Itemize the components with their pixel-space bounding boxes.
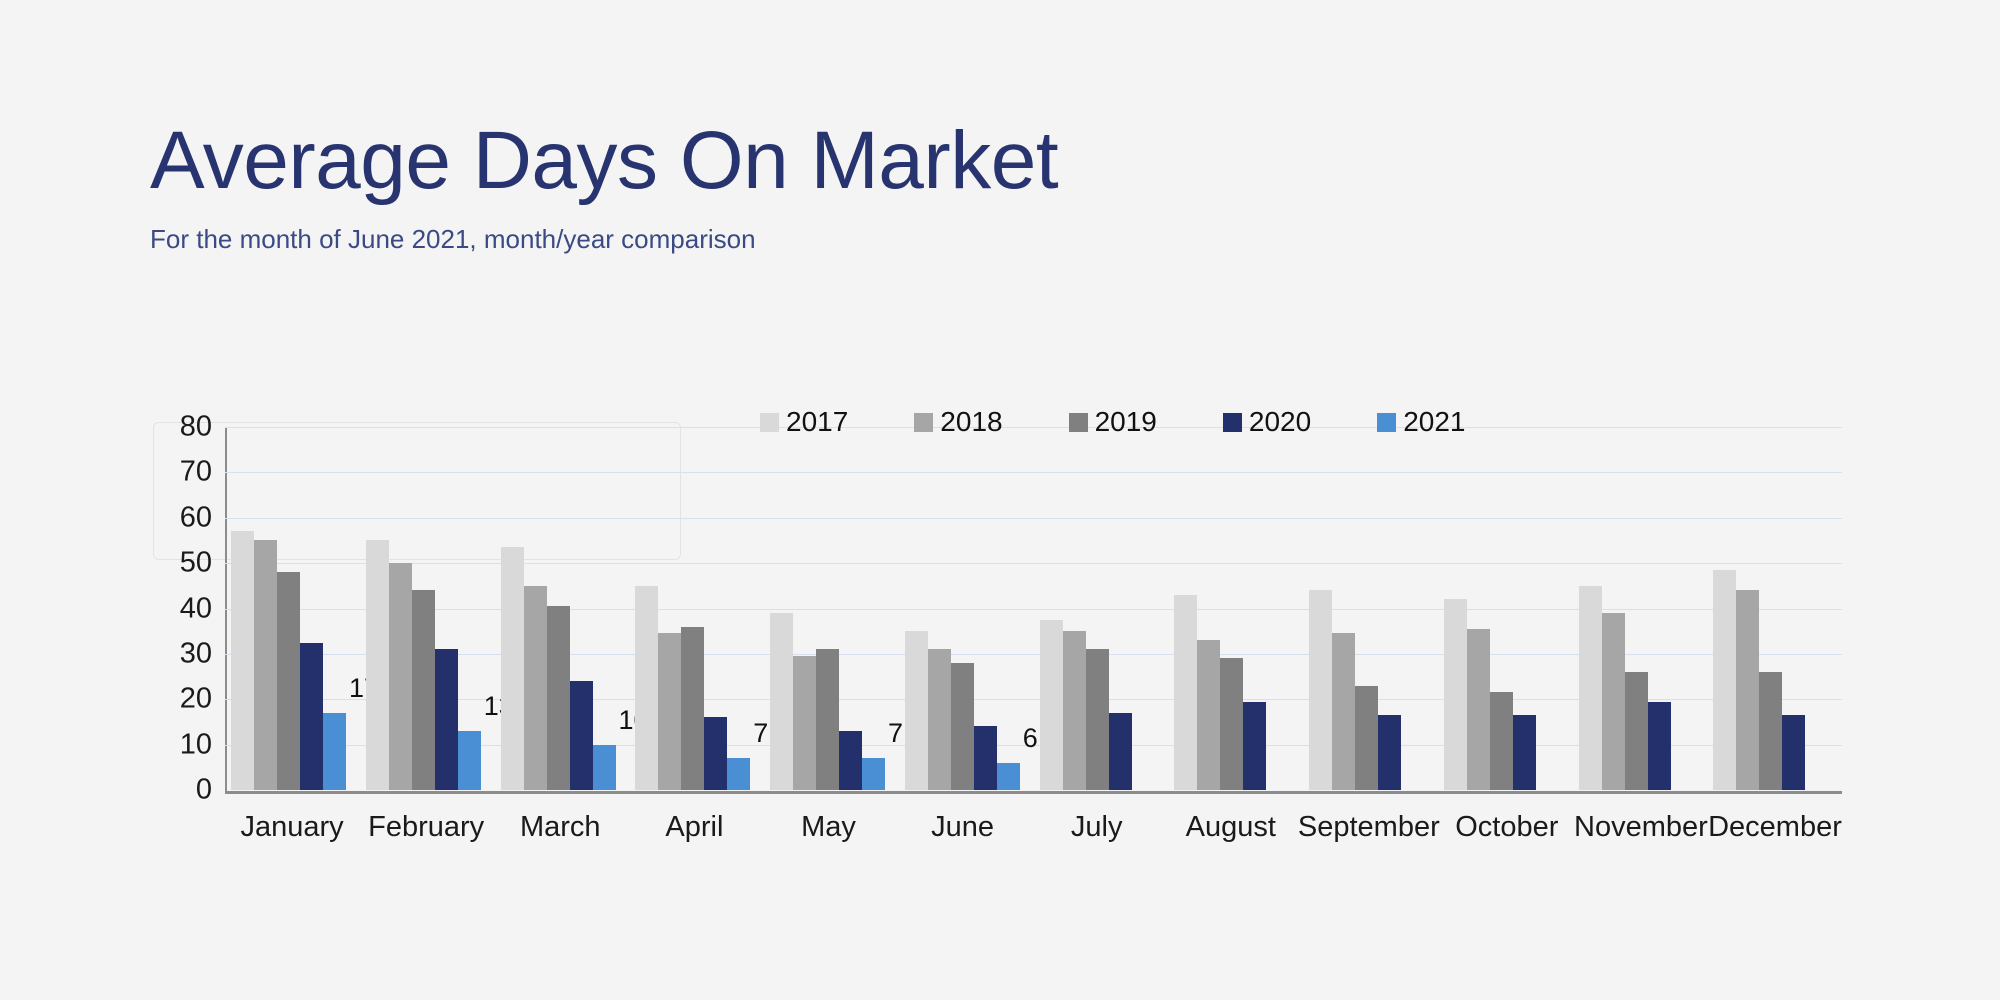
legend-label: 2021 (1403, 408, 1465, 436)
bar-2017-october[interactable] (1444, 599, 1467, 790)
x-axis-label-may: May (761, 799, 895, 849)
bar-2017-november[interactable] (1579, 586, 1602, 790)
y-axis-tick: 80 (180, 411, 212, 444)
bar-2019-july[interactable] (1086, 649, 1109, 790)
y-axis-tick: 20 (180, 683, 212, 716)
bar-2020-march[interactable] (570, 681, 593, 790)
bar-group-bars (360, 427, 495, 790)
x-axis-label-november: November (1574, 799, 1708, 849)
bar-2018-february[interactable] (389, 563, 412, 790)
legend-swatch-icon (1223, 413, 1242, 432)
bar-group-bars (1168, 427, 1303, 790)
bar-2021-february[interactable] (458, 731, 481, 790)
x-axis-label-january: January (225, 799, 359, 849)
bar-2018-november[interactable] (1602, 613, 1625, 790)
x-axis-line (225, 791, 1842, 794)
bar-group-february: 13 (360, 427, 495, 790)
bar-group-august (1168, 427, 1303, 790)
bar-2017-april[interactable] (635, 586, 658, 790)
y-axis-tick: 30 (180, 637, 212, 670)
bar-group-bars (1573, 427, 1708, 790)
x-axis-label-december: December (1708, 799, 1842, 849)
x-axis-label-july: July (1030, 799, 1164, 849)
bar-2019-december[interactable] (1759, 672, 1782, 790)
x-axis-label-june: June (896, 799, 1030, 849)
bar-2017-june[interactable] (905, 631, 928, 790)
bar-2018-october[interactable] (1467, 629, 1490, 790)
bar-2018-march[interactable] (524, 586, 547, 790)
bar-2020-may[interactable] (839, 731, 862, 790)
chart-legend: 20172018201920202021 (760, 408, 1465, 436)
bar-group-bars (764, 427, 899, 790)
bar-2017-august[interactable] (1174, 595, 1197, 790)
bar-group-march: 10 (495, 427, 630, 790)
bar-2017-may[interactable] (770, 613, 793, 790)
bar-group-bars (1707, 427, 1842, 790)
x-axis-label-october: October (1440, 799, 1574, 849)
legend-label: 2020 (1249, 408, 1311, 436)
bar-group-bars (899, 427, 1034, 790)
legend-label: 2018 (940, 408, 1002, 436)
bar-group-november (1573, 427, 1708, 790)
bar-2019-june[interactable] (951, 663, 974, 790)
bar-2020-june[interactable] (974, 726, 997, 790)
bar-2019-april[interactable] (681, 627, 704, 790)
bar-group-june: 6 (899, 427, 1034, 790)
bar-group-april: 7 (629, 427, 764, 790)
bar-2020-february[interactable] (435, 649, 458, 790)
bar-group-bars (1438, 427, 1573, 790)
bar-group-september (1303, 427, 1438, 790)
bar-2020-september[interactable] (1378, 715, 1401, 790)
bar-2020-october[interactable] (1513, 715, 1536, 790)
bar-group-bars (495, 427, 630, 790)
y-axis-tick: 0 (196, 774, 212, 807)
bar-2017-january[interactable] (231, 531, 254, 790)
y-axis-tick: 10 (180, 728, 212, 761)
legend-swatch-icon (914, 413, 933, 432)
bar-group-bars (225, 427, 360, 790)
bar-2017-february[interactable] (366, 540, 389, 790)
y-axis-tick: 50 (180, 547, 212, 580)
bar-2019-september[interactable] (1355, 686, 1378, 790)
bar-2017-july[interactable] (1040, 620, 1063, 790)
bar-2017-march[interactable] (501, 547, 524, 790)
bar-2021-may[interactable] (862, 758, 885, 790)
x-axis-label-february: February (359, 799, 493, 849)
bar-2020-december[interactable] (1782, 715, 1805, 790)
bar-group-july (1034, 427, 1169, 790)
x-axis-label-april: April (627, 799, 761, 849)
x-axis-labels: JanuaryFebruaryMarchAprilMayJuneJulyAugu… (225, 799, 1842, 849)
x-axis-label-august: August (1164, 799, 1298, 849)
bar-2017-december[interactable] (1713, 570, 1736, 790)
bar-group-december (1707, 427, 1842, 790)
bar-2018-september[interactable] (1332, 633, 1355, 790)
bar-2020-january[interactable] (300, 643, 323, 790)
bar-2019-november[interactable] (1625, 672, 1648, 790)
plot-area: 171310776 (225, 427, 1842, 790)
bar-2018-january[interactable] (254, 540, 277, 790)
bar-2020-april[interactable] (704, 717, 727, 790)
bar-2018-june[interactable] (928, 649, 951, 790)
bar-groups: 171310776 (225, 427, 1842, 790)
bar-2018-august[interactable] (1197, 640, 1220, 790)
legend-item-2017[interactable]: 2017 (760, 408, 848, 436)
bar-group-bars (1303, 427, 1438, 790)
y-axis-tick: 70 (180, 456, 212, 489)
legend-item-2020[interactable]: 2020 (1223, 408, 1311, 436)
bar-2021-march[interactable] (593, 745, 616, 790)
bar-2019-may[interactable] (816, 649, 839, 790)
legend-item-2021[interactable]: 2021 (1377, 408, 1465, 436)
page-title: Average Days On Market (150, 120, 1550, 202)
x-axis-label-september: September (1298, 799, 1440, 849)
bar-chart: 01020304050607080 171310776 201720182019… (0, 395, 2000, 895)
legend-swatch-icon (760, 413, 779, 432)
legend-swatch-icon (1377, 413, 1396, 432)
bar-group-october (1438, 427, 1573, 790)
bar-2017-september[interactable] (1309, 590, 1332, 790)
legend-label: 2017 (786, 408, 848, 436)
bar-2021-june[interactable] (997, 763, 1020, 790)
bar-2021-january[interactable] (323, 713, 346, 790)
legend-label: 2019 (1095, 408, 1157, 436)
y-axis-tick: 60 (180, 501, 212, 534)
bar-2020-august[interactable] (1243, 702, 1266, 790)
bar-2018-december[interactable] (1736, 590, 1759, 790)
bar-2019-march[interactable] (547, 606, 570, 790)
bar-2021-april[interactable] (727, 758, 750, 790)
bar-2019-february[interactable] (412, 590, 435, 790)
x-axis-label-march: March (493, 799, 627, 849)
bar-2019-august[interactable] (1220, 658, 1243, 790)
chart-header: Average Days On Market For the month of … (150, 120, 1550, 255)
page-subtitle: For the month of June 2021, month/year c… (150, 224, 1550, 255)
bar-group-january: 17 (225, 427, 360, 790)
legend-item-2019[interactable]: 2019 (1069, 408, 1157, 436)
bar-2019-october[interactable] (1490, 692, 1513, 790)
bar-group-may: 7 (764, 427, 899, 790)
bar-2018-july[interactable] (1063, 631, 1086, 790)
legend-swatch-icon (1069, 413, 1088, 432)
bar-2020-november[interactable] (1648, 702, 1671, 790)
bar-2018-may[interactable] (793, 656, 816, 790)
bar-2019-january[interactable] (277, 572, 300, 790)
y-axis: 01020304050607080 (150, 427, 212, 790)
bar-group-bars (629, 427, 764, 790)
legend-item-2018[interactable]: 2018 (914, 408, 1002, 436)
bar-group-bars (1034, 427, 1169, 790)
bar-2020-july[interactable] (1109, 713, 1132, 790)
bar-2018-april[interactable] (658, 633, 681, 790)
y-axis-tick: 40 (180, 592, 212, 625)
